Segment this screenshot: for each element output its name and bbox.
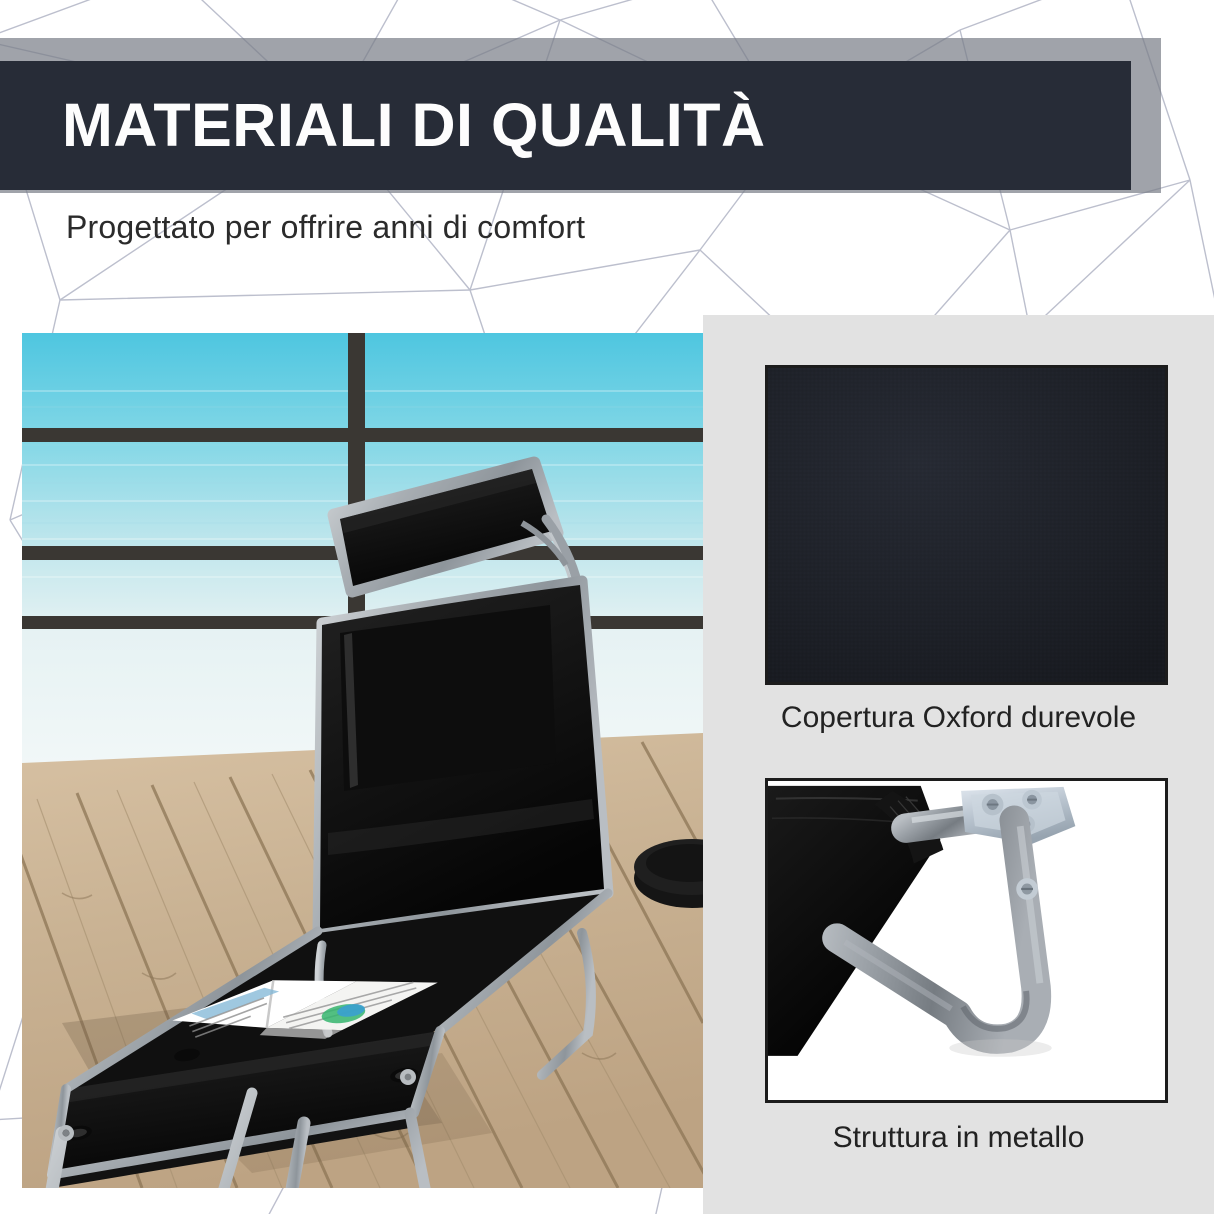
hero-scene-illustration	[22, 333, 703, 1188]
header-zone: MATERIALI DI QUALITÀ Progettato per offr…	[0, 0, 1214, 315]
page-title: MATERIALI DI QUALITÀ	[0, 95, 766, 156]
title-banner: MATERIALI DI QUALITÀ	[0, 61, 1131, 190]
oxford-fabric-swatch-image	[765, 365, 1168, 685]
content-area: Copertura Oxford durevole	[0, 315, 1214, 1214]
hero-product-photo	[22, 333, 703, 1188]
feature-cards-panel: Copertura Oxford durevole	[703, 315, 1214, 1214]
metal-frame-closeup-image	[765, 778, 1168, 1103]
black-fabric-texture	[768, 368, 1165, 682]
metal-frame-leg-illustration	[768, 781, 1165, 1100]
page-subtitle: Progettato per offrire anni di comfort	[66, 209, 585, 246]
metal-frame-caption: Struttura in metallo	[703, 1121, 1214, 1155]
oxford-cover-caption: Copertura Oxford durevole	[703, 701, 1214, 735]
